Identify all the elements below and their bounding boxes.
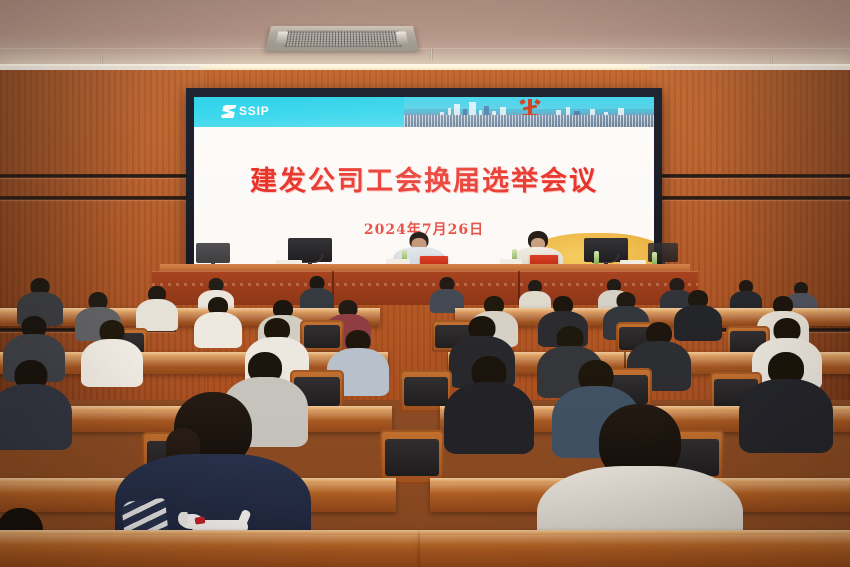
city-waterfront-strip [404,115,654,127]
ssip-logo-mark-icon [221,105,237,118]
wall-groove [660,174,850,178]
wall-groove [660,196,850,200]
attendee-r1-c3 [430,277,464,311]
conference-room-photo: SSIP [0,0,850,567]
ac-grille [284,31,402,47]
slide-decorative-swoosh [194,199,514,265]
ssip-logo-text: SSIP [239,104,270,118]
desk-row-front-left [0,530,420,567]
city-skyline-banner-image [404,97,654,127]
ssip-logo: SSIP [222,104,270,118]
ceiling-seam [0,48,850,49]
chair-back [380,430,444,484]
attendee-r2-c3 [196,297,240,345]
ceiling-hanger-rod [430,48,433,61]
ceiling [0,0,850,70]
attendee-r3-c1 [84,320,140,382]
desk-row-front-right [420,530,850,567]
water-bottle [594,251,599,264]
attendee-r2-c2 [137,286,177,330]
attendee-r4-c4 [744,352,828,444]
wall-groove [0,174,190,178]
ac-vane-right [396,32,409,45]
wall-groove [0,196,190,200]
attendee-r4-c0 [0,360,68,444]
ceiling-cassette-air-conditioner [265,26,419,51]
slide-header-band: SSIP [194,97,654,127]
rostrum-monitor [196,243,230,263]
attendee-r4-c2 [448,356,530,446]
